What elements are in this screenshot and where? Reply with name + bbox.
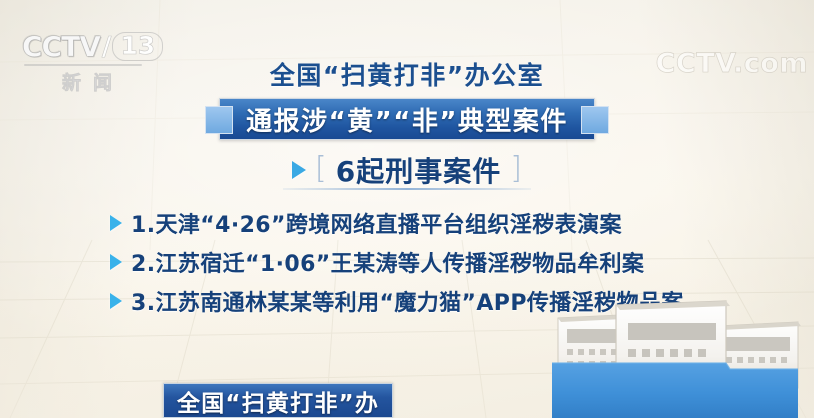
list-item: 1.天津“4·26”跨境网络直播平台组织淫秽表演案 xyxy=(110,203,774,242)
page-title-text: 全国“扫黄打非”办公室 xyxy=(270,56,544,92)
cctv-channel-name-cn: 新闻 xyxy=(22,68,154,95)
triangle-bullet-icon xyxy=(110,254,122,270)
banner-cap-right-icon xyxy=(581,106,609,134)
lower-third-text: 全国“扫黄打非”办 xyxy=(177,384,379,418)
bracket-close: ] xyxy=(510,154,522,184)
list-item: 2.江苏宿迁“1·06”王某涛等人传播淫秽物品牟利案 xyxy=(110,242,774,281)
triangle-bullet-icon xyxy=(110,215,122,231)
headline-banner: 通报涉“黄”“非”典型案件 xyxy=(219,98,595,140)
bracket-open: [ xyxy=(315,154,327,184)
cctv-com-watermark: CCTV.com xyxy=(656,48,808,79)
cctv-channel-number: 13 xyxy=(112,32,163,61)
cctv-logo-slash: / xyxy=(102,32,112,62)
page-title: 全国“扫黄打非”办公室 xyxy=(0,56,814,92)
cctv13-logo: CCTV / 13 新闻 xyxy=(22,30,154,95)
section-subtitle: [ 6起刑事案件 ] xyxy=(0,150,814,190)
broadcast-graphic-screen: CCTV / 13 新闻 CCTV.com 全国“扫黄打非”办公室 通报涉“黄”… xyxy=(0,0,814,418)
cctv-wordmark: CCTV xyxy=(22,30,100,63)
section-subtitle-underline xyxy=(283,188,531,190)
lower-third-banner: 全国“扫黄打非”办 xyxy=(163,383,393,418)
cctv-logo-underline xyxy=(24,64,142,66)
banner-cap-left-icon xyxy=(205,106,233,134)
section-subtitle-text: 6起刑事案件 xyxy=(336,150,501,190)
triangle-bullet-icon xyxy=(110,293,122,309)
case-list: 1.天津“4·26”跨境网络直播平台组织淫秽表演案 2.江苏宿迁“1·06”王某… xyxy=(110,203,774,320)
headline-banner-wrap: 通报涉“黄”“非”典型案件 xyxy=(0,98,814,140)
list-item-label: 2.江苏宿迁“1·06”王某涛等人传播淫秽物品牟利案 xyxy=(131,246,644,278)
triangle-bullet-icon xyxy=(292,161,306,179)
list-item: 3.江苏南通林某某等利用“魔力猫”APP传播淫秽物品案 xyxy=(110,281,774,320)
list-item-label: 1.天津“4·26”跨境网络直播平台组织淫秽表演案 xyxy=(131,207,622,239)
list-item-label: 3.江苏南通林某某等利用“魔力猫”APP传播淫秽物品案 xyxy=(131,285,684,317)
headline-banner-text: 通报涉“黄”“非”典型案件 xyxy=(246,101,568,138)
cctv13-logo-row: CCTV / 13 xyxy=(22,30,154,63)
